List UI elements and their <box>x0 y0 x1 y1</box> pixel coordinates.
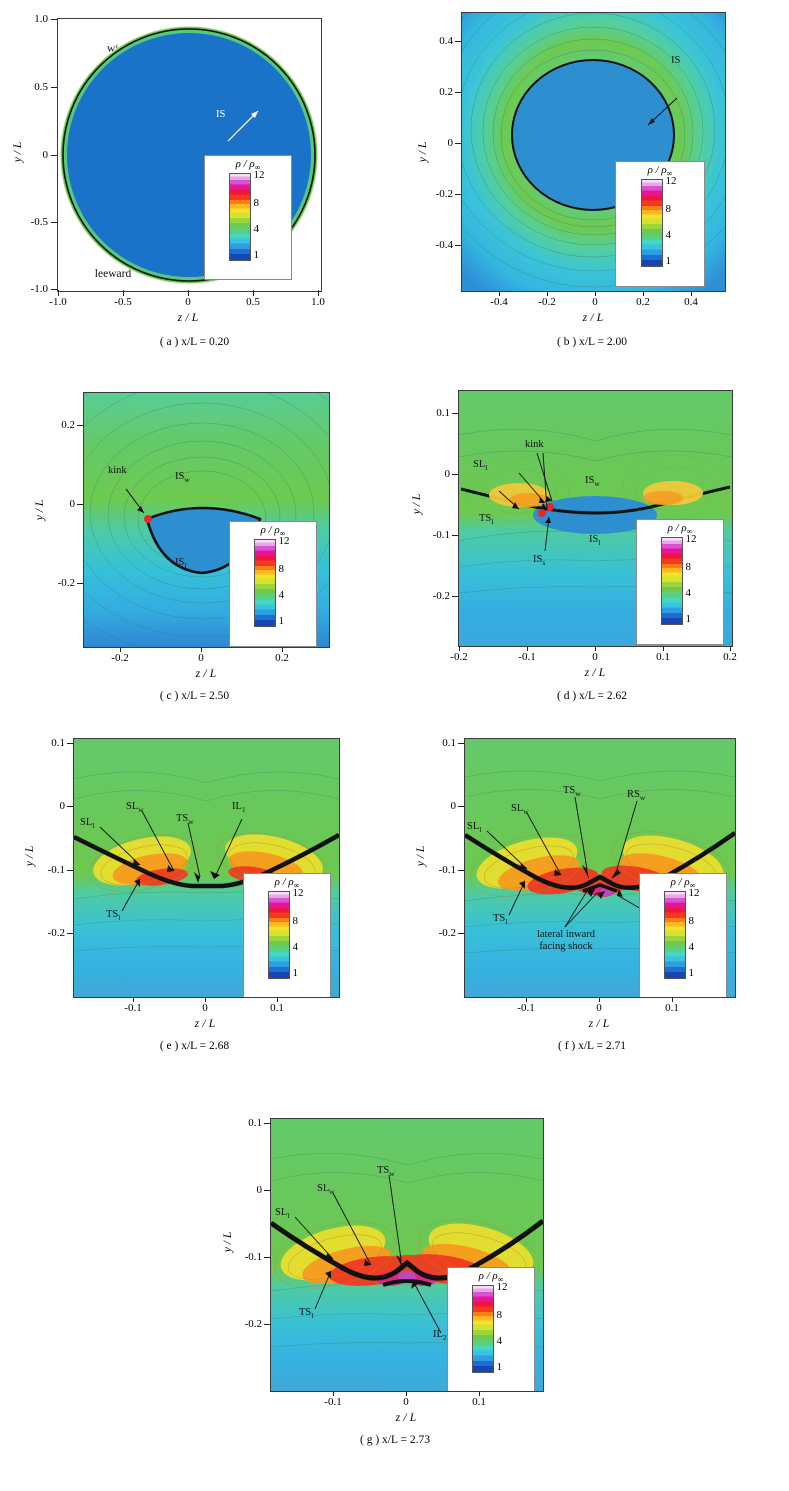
ytick-mark <box>458 743 464 744</box>
ytick-mark <box>264 1257 270 1258</box>
panel-a-ytick-0: 1.0 <box>12 13 48 25</box>
ytick-mark <box>452 535 458 536</box>
ytick-mark <box>51 19 57 20</box>
panel-e-caption: ( e ) x/L = 2.68 <box>0 1040 389 1052</box>
panel-b-ytick-1: 0.2 <box>417 86 453 98</box>
panel-e-xlabel: z / L <box>155 1018 255 1030</box>
panel-f-xtick-2: 0.1 <box>652 1002 692 1014</box>
panel-d-xtick-3: 0.1 <box>643 651 683 663</box>
annotation-sl-l-g: SLl <box>275 1207 289 1220</box>
ytick-mark <box>51 289 57 290</box>
panel-e-xtick-2: 0.1 <box>257 1002 297 1014</box>
legend-colorbar-a <box>229 173 251 261</box>
leeward-label-d: leeward <box>465 621 575 639</box>
panel-d-xlabel: z / L <box>545 667 645 679</box>
panel-c-xtick-1: 0 <box>181 652 221 664</box>
panel-f-xtick-1: 0 <box>579 1002 619 1014</box>
panel-a-xlabel: z / L <box>138 312 238 324</box>
ytick-mark <box>51 87 57 88</box>
panel-b-xtick-3: 0.2 <box>623 296 663 308</box>
panel-e-ylabel: y / L <box>24 816 36 896</box>
annotation-il-2-g: IL2 <box>433 1329 447 1342</box>
ytick-mark <box>264 1190 270 1191</box>
panel-c-ylabel: y / L <box>34 470 46 550</box>
annotation-il-1-e: IL1 <box>232 801 246 814</box>
panel-f-ytick-0: 0.1 <box>420 737 456 749</box>
panel-c-ytick-0: 0.2 <box>39 419 75 431</box>
ytick-mark <box>455 41 461 42</box>
panel-b: windward leeward IS ρ / ρ∞ 128 41 -0.4 -… <box>395 0 789 360</box>
panel-a-xtick-4: 1.0 <box>298 296 338 308</box>
windward-label-a: windward <box>58 41 202 59</box>
panel-e: windward leeward SLl SLw TSw IL1 TSl ρ /… <box>0 710 389 1060</box>
panel-a-caption: ( a ) x/L = 0.20 <box>0 336 389 348</box>
panel-g-ytick-3: -0.2 <box>222 1318 262 1330</box>
panel-d-ytick-0: 0.1 <box>414 407 450 419</box>
panel-e-plot: windward leeward SLl SLw TSw IL1 TSl ρ /… <box>73 738 340 998</box>
panel-c-caption: ( c ) x/L = 2.50 <box>0 690 389 702</box>
panel-g-ytick-0: 0.1 <box>226 1117 262 1129</box>
panel-a-ytick-4: -1.0 <box>8 283 48 295</box>
annotation-ts-w-e: TSw <box>176 813 194 826</box>
legend-colorbar-f <box>664 891 686 979</box>
panel-a-ytick-1: 0.5 <box>12 81 48 93</box>
panel-b-xtick-1: -0.2 <box>527 296 567 308</box>
panel-d: windward leeward kink SLl TSl ISs ISw IS… <box>395 368 789 708</box>
annotation-kink-c: kink <box>108 465 127 476</box>
ytick-mark <box>452 413 458 414</box>
panel-e-ytick-1: 0 <box>29 800 65 812</box>
panel-c-xtick-2: 0.2 <box>262 652 302 664</box>
ytick-mark <box>67 870 73 871</box>
annotation-is-b: IS <box>671 55 680 66</box>
annotation-sl-w-f: SLw <box>511 803 529 816</box>
panel-b-ytick-0: 0.4 <box>417 35 453 47</box>
panel-f-xtick-0: -0.1 <box>506 1002 546 1014</box>
legend-ticks-a: 128 41 <box>251 173 268 261</box>
panel-e-xtick-1: 0 <box>185 1002 225 1014</box>
panel-f-ytick-1: 0 <box>420 800 456 812</box>
ytick-mark <box>77 583 83 584</box>
panel-a-xtick-3: 0.5 <box>233 296 273 308</box>
legend-colorbar-e <box>268 891 290 979</box>
annotation-is-w-c: ISw <box>175 471 190 484</box>
ytick-mark <box>458 870 464 871</box>
panel-g-xtick-0: -0.1 <box>313 1396 353 1408</box>
legend-ticks-d: 128 41 <box>683 537 700 625</box>
panel-a-xtick-2: 0 <box>168 296 208 308</box>
panel-c: windward leeward kink ISw ISl ρ / ρ∞ 128… <box>0 368 389 708</box>
windward-label-b: windward <box>470 26 588 44</box>
annotation-is-w-d: ISw <box>585 475 600 488</box>
panel-d-ytick-3: -0.2 <box>410 590 450 602</box>
leeward-label-a: leeward <box>58 266 168 284</box>
panel-e-ytick-3: -0.2 <box>25 927 65 939</box>
lateral-shock-line-1: lateral inward <box>537 929 595 940</box>
annotation-ts-l-e: TSl <box>106 909 120 922</box>
ytick-mark <box>264 1123 270 1124</box>
panel-a-xtick-1: -0.5 <box>103 296 143 308</box>
figure-density-contours: windward leeward IS ρ / ρ∞ 128 41 -1.0 -… <box>0 0 789 1491</box>
panel-b-plot: windward leeward IS ρ / ρ∞ 128 41 <box>461 12 726 292</box>
ytick-mark <box>77 425 83 426</box>
annotation-ts-l-d: TSl <box>479 513 493 526</box>
windward-label-c: windward <box>84 401 194 419</box>
ytick-mark <box>458 933 464 934</box>
panel-g-plot: windward leeward SLl SLw TSw TSl IL2 ρ /… <box>270 1118 544 1392</box>
ytick-mark <box>455 245 461 246</box>
panel-b-caption: ( b ) x/L = 2.00 <box>395 336 789 348</box>
windward-label-f: windward <box>471 745 601 763</box>
panel-d-xtick-4: 0.2 <box>710 651 750 663</box>
legend-colorbar-d <box>661 537 683 625</box>
panel-e-ytick-0: 0.1 <box>29 737 65 749</box>
panel-d-ylabel: y / L <box>411 464 423 544</box>
panel-d-plot: windward leeward kink SLl TSl ISs ISw IS… <box>458 390 733 647</box>
colorbar-legend-g: ρ / ρ∞ 128 41 <box>447 1267 535 1392</box>
panel-a-plot: windward leeward IS ρ / ρ∞ 128 41 <box>57 18 322 292</box>
ytick-mark <box>452 474 458 475</box>
annotation-is-s-d: ISs <box>533 554 545 567</box>
leeward-label-f: leeward <box>471 972 581 990</box>
panel-d-xtick-2: 0 <box>575 651 615 663</box>
legend-ticks-f: 128 41 <box>686 891 703 979</box>
legend-colorbar-c <box>254 539 276 627</box>
annotation-ts-w-f: TSw <box>563 785 581 798</box>
windward-label-g: windward <box>277 1131 407 1149</box>
annotation-sl-l-d: SLl <box>473 459 487 472</box>
panel-d-xtick-1: -0.1 <box>507 651 547 663</box>
panel-c-ytick-2: -0.2 <box>35 577 75 589</box>
panel-c-xtick-0: -0.2 <box>100 652 140 664</box>
annotation-is-l-d: ISl <box>589 534 600 547</box>
annotation-ts-l-f: TSl <box>493 913 507 926</box>
annotation-sl-w-g: SLw <box>317 1183 335 1196</box>
panel-g-caption: ( g ) x/L = 2.73 <box>198 1434 592 1446</box>
panel-d-caption: ( d ) x/L = 2.62 <box>395 690 789 702</box>
panel-g: windward leeward SLl SLw TSw TSl IL2 ρ /… <box>198 1090 592 1450</box>
ytick-mark <box>458 806 464 807</box>
panel-d-xtick-0: -0.2 <box>439 651 479 663</box>
annotation-is-l-c: ISl <box>175 557 186 570</box>
panel-b-xtick-2: 0 <box>575 296 615 308</box>
legend-colorbar-b <box>641 179 663 267</box>
panel-f-ylabel: y / L <box>415 816 427 896</box>
panel-e-xtick-0: -0.1 <box>113 1002 153 1014</box>
panel-c-plot: windward leeward kink ISw ISl ρ / ρ∞ 128… <box>83 392 330 648</box>
ytick-mark <box>264 1324 270 1325</box>
legend-ticks-b: 128 41 <box>663 179 680 267</box>
panel-b-xtick-4: 0.4 <box>671 296 711 308</box>
ytick-mark <box>77 504 83 505</box>
panel-g-ytick-1: 0 <box>226 1184 262 1196</box>
annotation-sl-w-e: SLw <box>126 801 144 814</box>
colorbar-legend-e: ρ / ρ∞ 128 41 <box>243 873 331 998</box>
colorbar-legend-f: ρ / ρ∞ 128 41 <box>639 873 727 998</box>
colorbar-legend-c: ρ / ρ∞ 128 41 <box>229 521 317 647</box>
ytick-mark <box>51 155 57 156</box>
leeward-label-b: leeward <box>470 264 588 282</box>
panel-f-caption: ( f ) x/L = 2.71 <box>395 1040 789 1052</box>
annotation-sl-l-e: SLl <box>80 817 94 830</box>
legend-ticks-g: 128 41 <box>494 1285 511 1373</box>
panel-b-xtick-0: -0.4 <box>479 296 519 308</box>
windward-label-e: windward <box>80 747 210 765</box>
ytick-mark <box>455 194 461 195</box>
ytick-mark <box>452 596 458 597</box>
panel-f-plot: windward leeward SLl SLw TSw RSw TSl RSl… <box>464 738 736 998</box>
annotation-ts-w-g: TSw <box>377 1165 395 1178</box>
panel-f-xlabel: z / L <box>549 1018 649 1030</box>
colorbar-legend-d: ρ / ρ∞ 128 41 <box>636 519 724 645</box>
ytick-mark <box>455 92 461 93</box>
colorbar-legend-b: ρ / ρ∞ 128 41 <box>615 161 705 287</box>
leeward-label-e: leeward <box>80 972 190 990</box>
annotation-lateral-shock-f: lateral inward facing shock <box>511 929 621 953</box>
panel-f: windward leeward SLl SLw TSw RSw TSl RSl… <box>395 710 789 1060</box>
panel-b-ylabel: y / L <box>417 112 429 192</box>
windward-label-d: windward <box>465 397 591 415</box>
ytick-mark <box>455 143 461 144</box>
panel-g-xlabel: z / L <box>356 1412 456 1424</box>
ytick-mark <box>67 933 73 934</box>
panel-a: windward leeward IS ρ / ρ∞ 128 41 -1.0 -… <box>0 0 389 360</box>
annotation-sl-l-f: SLl <box>467 821 481 834</box>
ytick-mark <box>67 806 73 807</box>
annotation-kink-d: kink <box>525 439 544 450</box>
annotation-is-a: IS <box>216 109 225 120</box>
panel-g-ylabel: y / L <box>222 1202 234 1282</box>
annotation-rs-w-f: RSw <box>627 789 645 802</box>
leeward-label-g: leeward <box>277 1368 387 1386</box>
panel-c-xlabel: z / L <box>156 668 256 680</box>
annotation-ts-l-g: TSl <box>299 1307 313 1320</box>
lateral-shock-line-2: facing shock <box>539 941 592 952</box>
panel-a-ylabel: y / L <box>12 112 24 192</box>
ytick-mark <box>51 222 57 223</box>
ytick-mark <box>67 743 73 744</box>
colorbar-legend-a: ρ / ρ∞ 128 41 <box>204 155 292 280</box>
panel-g-xtick-1: 0 <box>386 1396 426 1408</box>
panel-a-xtick-0: -1.0 <box>38 296 78 308</box>
panel-b-xlabel: z / L <box>543 312 643 324</box>
legend-ticks-e: 128 41 <box>290 891 307 979</box>
panel-b-ytick-4: -0.4 <box>413 239 453 251</box>
panel-g-xtick-2: 0.1 <box>459 1396 499 1408</box>
legend-ticks-c: 128 41 <box>276 539 293 627</box>
legend-colorbar-g <box>472 1285 494 1373</box>
panel-a-ytick-3: -0.5 <box>8 216 48 228</box>
leeward-label-c: leeward <box>84 622 186 640</box>
panel-f-ytick-3: -0.2 <box>416 927 456 939</box>
